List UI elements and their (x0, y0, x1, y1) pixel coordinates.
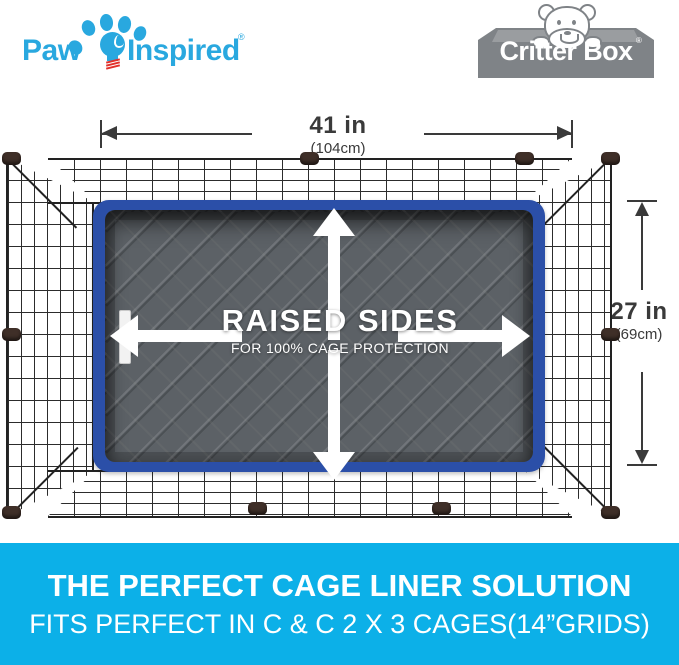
dim-line-right (424, 133, 572, 135)
raised-sides-callout: RAISED SIDES FOR 100% CAGE PROTECTION (150, 305, 530, 356)
cage-connector-bottom-left (2, 506, 21, 519)
arrow-down-icon (313, 350, 355, 480)
dim-arrowhead-left (102, 126, 117, 140)
cage-connector-bottom-mid-left (248, 502, 267, 515)
dim-line-top (641, 208, 643, 290)
cage-connector-top-mid-left (300, 152, 319, 165)
banner-subline: FITS PERFECT IN C & C 2 X 3 CAGES(14”GRI… (29, 610, 650, 638)
cage-mesh-bottom-panel (48, 470, 572, 516)
brand-word-inspired: Inspired (127, 36, 240, 66)
banner-headline: THE PERFECT CAGE LINER SOLUTION (48, 570, 632, 603)
paw-toe-icon (99, 13, 114, 31)
dim-arrowhead-top (635, 202, 649, 216)
brand-word-paw: Paw (22, 36, 81, 66)
width-inches: 41 in (258, 114, 418, 138)
critter-box-logo: Critter Box ® (478, 6, 654, 78)
paw-inspired-logo: Paw Inspired ® (22, 14, 262, 76)
paw-toe-icon (79, 18, 97, 38)
critter-eye-left-icon (557, 20, 561, 25)
callout-headline: RAISED SIDES (150, 305, 530, 336)
bottom-banner: THE PERFECT CAGE LINER SOLUTION FITS PER… (0, 543, 679, 665)
callout-subline: FOR 100% CAGE PROTECTION (150, 340, 530, 356)
dim-line-bottom (641, 372, 643, 454)
paw-toe-icon (117, 15, 133, 34)
cage-connector-right-mid (601, 328, 620, 341)
dim-tick-bottom (627, 464, 657, 466)
cage-connector-top-left (2, 152, 21, 165)
registered-trademark-symbol: ® (238, 32, 245, 42)
critter-nose-icon (564, 31, 571, 35)
dim-tick-right (571, 120, 573, 148)
cage-edge-bottom (48, 516, 572, 518)
cage-connector-bottom-right (601, 506, 620, 519)
dim-arrowhead-bottom (635, 450, 649, 464)
critter-box-wordmark: Critter Box (478, 38, 654, 65)
dim-arrowhead-right (557, 126, 572, 140)
cage-connector-top-mid-right (515, 152, 534, 165)
dim-line-left (102, 133, 252, 135)
critter-eye-right-icon (572, 20, 576, 25)
cage-connector-left-mid (2, 328, 21, 341)
registered-trademark-symbol: ® (636, 36, 642, 45)
cage-connector-top-right (601, 152, 620, 165)
cage-connector-bottom-mid-right (432, 502, 451, 515)
lightbulb-highlight-icon (114, 35, 124, 48)
lightbulb-filament-icon (106, 60, 120, 69)
